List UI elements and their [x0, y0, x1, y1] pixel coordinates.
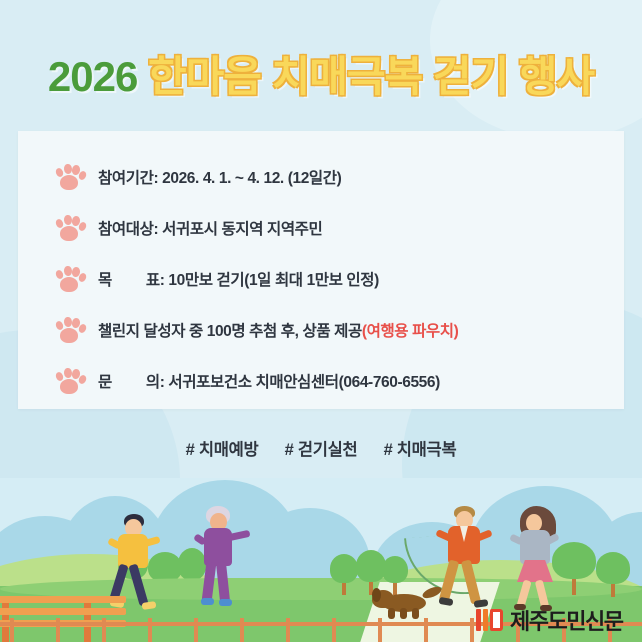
- publisher-name: 제주도민신문: [510, 604, 622, 636]
- walking-dog: [372, 588, 444, 620]
- info-row-label: 목: [98, 272, 112, 289]
- info-row: 참여대상: 서귀포시 동지역 지역주민: [54, 202, 612, 253]
- info-row-text: 참여기간: 2026. 4. 1. ~ 4. 12. (12일간): [98, 166, 341, 188]
- info-row-value: 의: 서귀포보건소 치매안심센터(064-760-6556): [146, 374, 440, 391]
- info-row: 참여기간: 2026. 4. 1. ~ 4. 12. (12일간): [54, 151, 612, 202]
- publisher-logo: 제주도민신문: [476, 604, 622, 636]
- info-row-label: 문: [98, 374, 112, 391]
- walking-elderly-woman-purple: [192, 506, 256, 626]
- info-row-label: 참여기간:: [98, 170, 158, 187]
- hashtag: # 걷기실천: [285, 441, 358, 459]
- info-card: 참여기간: 2026. 4. 1. ~ 4. 12. (12일간) 참여대상: …: [18, 131, 624, 409]
- hashtag-list: # 치매예방 # 걷기실천 # 치매극복: [0, 436, 642, 460]
- info-row-value: 표: 10만보 걷기(1일 최대 1만보 인정): [146, 272, 379, 289]
- info-row-accent: (여행용 파우치): [362, 323, 459, 340]
- info-row-value: 2026. 4. 1. ~ 4. 12. (12일간): [162, 170, 341, 187]
- tree-icon: [330, 554, 358, 594]
- info-row-text: 문의: 서귀포보건소 치매안심센터(064-760-6556): [98, 370, 440, 392]
- hashtag: # 치매극복: [384, 441, 457, 459]
- info-row-label: 참여대상:: [98, 221, 158, 238]
- info-row-text: 참여대상: 서귀포시 동지역 지역주민: [98, 217, 322, 239]
- paw-print-icon: [54, 266, 84, 292]
- info-row-text: 챌린지 달성자 중 100명 추첨 후, 상품 제공(여행용 파우치): [98, 319, 458, 341]
- title-main: 한마음 치매극복 걷기 행사: [148, 53, 594, 100]
- info-row-text: 목표: 10만보 걷기(1일 최대 1만보 인정): [98, 268, 379, 290]
- paw-print-icon: [54, 317, 84, 343]
- info-row: 목표: 10만보 걷기(1일 최대 1만보 인정): [54, 253, 612, 304]
- info-row-list: 참여기간: 2026. 4. 1. ~ 4. 12. (12일간) 참여대상: …: [54, 151, 612, 406]
- info-row-value: 서귀포시 동지역 지역주민: [162, 221, 322, 238]
- paw-print-icon: [54, 215, 84, 241]
- poster-title: 2026 한마음 치매극복 걷기 행사: [0, 56, 642, 98]
- newspaper-book-logo-icon: [476, 607, 503, 633]
- info-row-label: 챌린지 달성자 중 100명 추첨 후, 상품 제공: [98, 323, 362, 340]
- tree-icon: [596, 552, 630, 596]
- paw-print-icon: [54, 368, 84, 394]
- title-year: 2026: [48, 53, 137, 100]
- hashtag: # 치매예방: [186, 441, 259, 459]
- info-row: 챌린지 달성자 중 100명 추첨 후, 상품 제공(여행용 파우치): [54, 304, 612, 355]
- info-row: 문의: 서귀포보건소 치매안심센터(064-760-6556): [54, 355, 612, 406]
- event-poster: 2026 한마음 치매극복 걷기 행사 참여기간: 2026. 4. 1. ~ …: [0, 0, 642, 642]
- paw-print-icon: [54, 164, 84, 190]
